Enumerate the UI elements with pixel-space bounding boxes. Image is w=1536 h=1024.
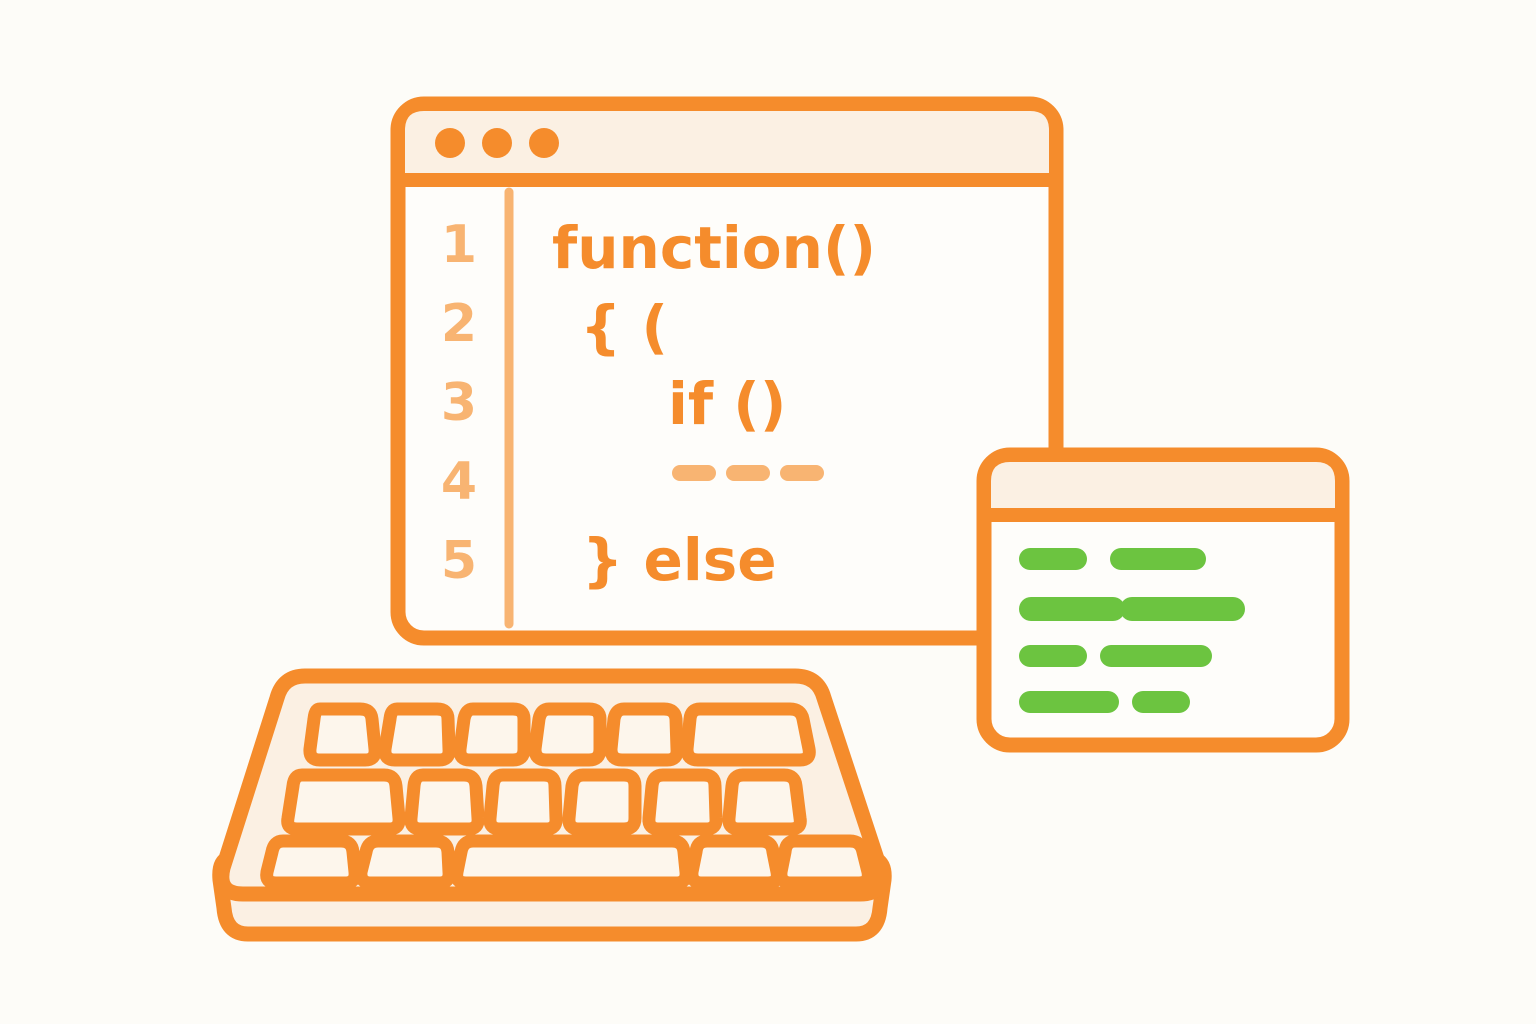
content-bar: [1019, 597, 1125, 621]
code-line-5: } else: [582, 526, 777, 594]
content-bar: [1019, 645, 1087, 667]
code-line-2: { (: [580, 293, 668, 361]
keyboard-key[interactable]: [729, 775, 800, 829]
content-bar: [1132, 691, 1190, 713]
keyboard-key[interactable]: [490, 775, 556, 829]
preview-window[interactable]: [984, 455, 1342, 745]
window-dot-close-icon[interactable]: [435, 128, 465, 158]
keyboard-key[interactable]: [611, 709, 677, 760]
line-number: 4: [441, 452, 477, 512]
content-bar: [1120, 597, 1245, 621]
keyboard-key[interactable]: [781, 841, 868, 883]
code-line-3: if (): [668, 370, 786, 438]
keyboard-key-wide[interactable]: [687, 709, 809, 760]
content-bar: [1110, 548, 1206, 570]
line-number: 1: [441, 215, 477, 275]
preview-titlebar-background: [991, 462, 1335, 511]
window-dot-maximize-icon[interactable]: [529, 128, 559, 158]
coding-illustration: 1 2 3 4 5 function() { ( if () } else: [0, 0, 1536, 1024]
content-bar: [1019, 548, 1087, 570]
keyboard-key[interactable]: [385, 709, 449, 760]
code-editor-window[interactable]: 1 2 3 4 5 function() { ( if () } else: [398, 104, 1056, 638]
keyboard-key[interactable]: [310, 709, 375, 760]
window-dot-minimize-icon[interactable]: [482, 128, 512, 158]
keyboard-row-1[interactable]: [310, 709, 809, 760]
content-bar: [1019, 691, 1119, 713]
dash-glyph: [726, 465, 770, 481]
dash-glyph: [780, 465, 824, 481]
keyboard-key-wide[interactable]: [288, 775, 399, 829]
editor-window-controls[interactable]: [435, 128, 559, 158]
line-number: 5: [441, 531, 477, 591]
code-line-1: function(): [552, 214, 876, 282]
keyboard-key[interactable]: [569, 775, 635, 829]
code-line-4-dashes: [672, 465, 824, 481]
keyboard-key[interactable]: [411, 775, 478, 829]
keyboard-key[interactable]: [267, 841, 355, 883]
keyboard-key[interactable]: [692, 841, 777, 883]
dash-glyph: [672, 465, 716, 481]
keyboard-row-3[interactable]: [267, 841, 869, 883]
illustration-canvas: 1 2 3 4 5 function() { ( if () } else: [0, 0, 1536, 1024]
line-number: 2: [441, 294, 477, 354]
keyboard-key[interactable]: [535, 709, 600, 760]
keyboard-key[interactable]: [460, 709, 524, 760]
keyboard-key[interactable]: [361, 841, 449, 883]
keyboard-key[interactable]: [649, 775, 716, 829]
line-number: 3: [441, 373, 477, 433]
editor-line-number-gutter: 1 2 3 4 5: [441, 215, 477, 591]
keyboard[interactable]: [220, 676, 884, 934]
keyboard-spacebar[interactable]: [457, 841, 686, 883]
content-bar: [1100, 645, 1212, 667]
